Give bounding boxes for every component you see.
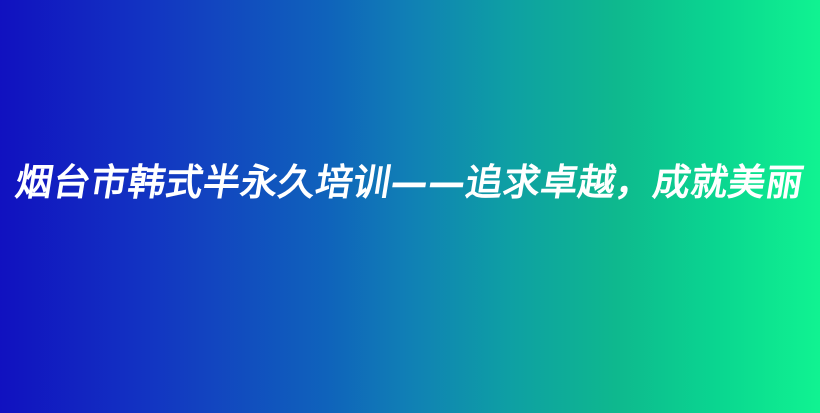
headline-container: 烟台市韩式半永久培训——追求卓越，成就美丽	[0, 0, 820, 365]
banner-root: 烟台市韩式半永久培训——追求卓越，成就美丽	[0, 0, 820, 413]
banner-headline: 烟台市韩式半永久培训——追求卓越，成就美丽	[13, 162, 807, 203]
